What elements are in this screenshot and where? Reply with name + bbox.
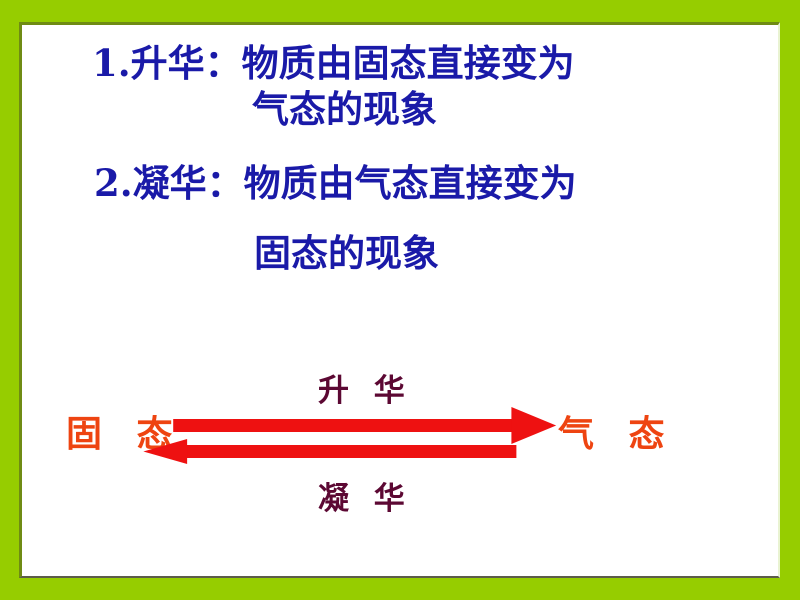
process-label-deposition: 凝 华 — [318, 473, 412, 518]
slide-inner-panel: 1.升华：物质由固态直接变为 气态的现象 2.凝华：物质由气态直接变为 固态的现… — [19, 22, 780, 578]
arrow-right-sublimation — [173, 407, 556, 444]
definition-deposition-line-1: 2.凝华：物质由气态直接变为 — [22, 161, 778, 207]
phase-change-diagram: 升 华 固 态 气 态 凝 华 — [22, 345, 778, 545]
definitions-block: 1.升华：物质由固态直接变为 气态的现象 2.凝华：物质由气态直接变为 固态的现… — [22, 41, 778, 277]
slide: 1.升华：物质由固态直接变为 气态的现象 2.凝华：物质由气态直接变为 固态的现… — [0, 0, 800, 600]
definition-deposition-line-2: 固态的现象 — [22, 231, 778, 277]
definition-sublimation-line-2: 气态的现象 — [22, 87, 778, 133]
arrow-left-deposition — [143, 439, 516, 464]
definition-sublimation-line-1: 1.升华：物质由固态直接变为 — [22, 41, 778, 87]
